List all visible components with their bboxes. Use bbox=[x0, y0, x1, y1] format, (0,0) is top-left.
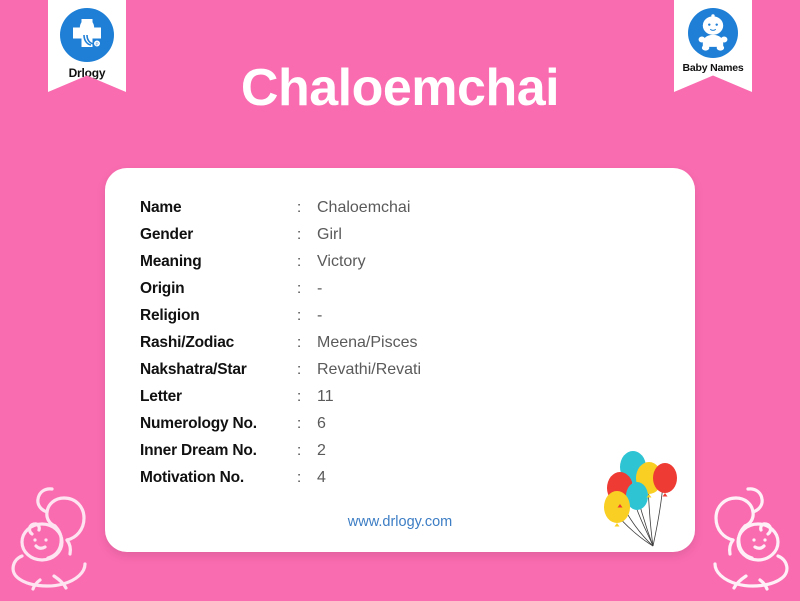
row-separator: : bbox=[297, 356, 317, 383]
row-label: Letter bbox=[140, 383, 297, 410]
row-label: Gender bbox=[140, 221, 297, 248]
row-label: Religion bbox=[140, 302, 297, 329]
row-label: Meaning bbox=[140, 248, 297, 275]
row-separator: : bbox=[297, 410, 317, 437]
row-label: Numerology No. bbox=[140, 410, 297, 437]
row-value: Chaloemchai bbox=[317, 194, 421, 221]
page-title: Chaloemchai bbox=[0, 62, 800, 114]
row-separator: : bbox=[297, 194, 317, 221]
table-row: Inner Dream No. : 2 bbox=[140, 437, 421, 464]
row-label: Origin bbox=[140, 275, 297, 302]
table-row: Numerology No. : 6 bbox=[140, 410, 421, 437]
name-details-table: Name : Chaloemchai Gender : Girl Meaning… bbox=[140, 194, 421, 491]
table-row: Meaning : Victory bbox=[140, 248, 421, 275]
doctor-medical-cross-icon: P bbox=[60, 8, 114, 62]
row-value: 4 bbox=[317, 464, 421, 491]
svg-text:P: P bbox=[95, 42, 98, 47]
row-value: 2 bbox=[317, 437, 421, 464]
table-row: Motivation No. : 4 bbox=[140, 464, 421, 491]
table-row: Gender : Girl bbox=[140, 221, 421, 248]
row-label: Rashi/Zodiac bbox=[140, 329, 297, 356]
row-separator: : bbox=[297, 437, 317, 464]
mother-baby-watermark-icon bbox=[2, 476, 106, 596]
table-row: Name : Chaloemchai bbox=[140, 194, 421, 221]
row-value: Revathi/Revati bbox=[317, 356, 421, 383]
row-value: Meena/Pisces bbox=[317, 329, 421, 356]
row-label: Name bbox=[140, 194, 297, 221]
row-separator: : bbox=[297, 329, 317, 356]
table-row: Rashi/Zodiac : Meena/Pisces bbox=[140, 329, 421, 356]
table-row: Origin : - bbox=[140, 275, 421, 302]
table-body: Name : Chaloemchai Gender : Girl Meaning… bbox=[140, 194, 421, 491]
row-value: 11 bbox=[317, 383, 421, 410]
row-label: Motivation No. bbox=[140, 464, 297, 491]
mother-baby-watermark-icon bbox=[694, 476, 798, 596]
row-separator: : bbox=[297, 221, 317, 248]
site-url[interactable]: www.drlogy.com bbox=[105, 514, 695, 530]
name-details-card: Name : Chaloemchai Gender : Girl Meaning… bbox=[105, 168, 695, 552]
table-row: Letter : 11 bbox=[140, 383, 421, 410]
row-separator: : bbox=[297, 464, 317, 491]
row-value: Girl bbox=[317, 221, 421, 248]
row-value: Victory bbox=[317, 248, 421, 275]
baby-icon bbox=[688, 8, 738, 58]
table-row: Nakshatra/Star : Revathi/Revati bbox=[140, 356, 421, 383]
table-row: Religion : - bbox=[140, 302, 421, 329]
row-value: - bbox=[317, 302, 421, 329]
row-value: - bbox=[317, 275, 421, 302]
row-separator: : bbox=[297, 383, 317, 410]
row-value: 6 bbox=[317, 410, 421, 437]
row-label: Nakshatra/Star bbox=[140, 356, 297, 383]
row-separator: : bbox=[297, 302, 317, 329]
row-separator: : bbox=[297, 275, 317, 302]
row-separator: : bbox=[297, 248, 317, 275]
balloons-icon bbox=[595, 434, 691, 552]
row-label: Inner Dream No. bbox=[140, 437, 297, 464]
